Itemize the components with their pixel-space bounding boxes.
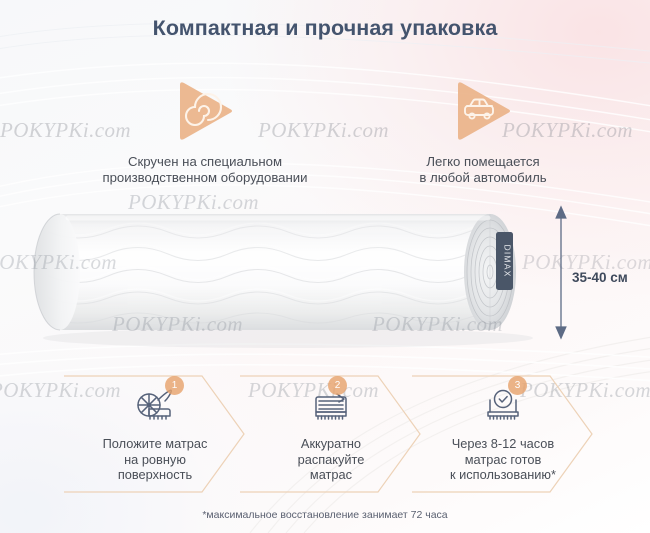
car-icon <box>448 76 518 146</box>
dimension-indicator: 35-40 см <box>548 205 648 340</box>
spiral-icon <box>170 76 240 146</box>
step-number-badge: 3 <box>508 376 527 395</box>
feature-line-2: производственном оборудовании <box>60 170 350 186</box>
page-title: Компактная и прочная упаковка <box>0 16 650 41</box>
rolled-mattress-image: DIMAX <box>8 196 548 348</box>
infographic-page: Компактная и прочная упаковка Скручен на… <box>0 0 650 533</box>
feature-block-car: Легко помещается в любой автомобиль <box>358 76 608 186</box>
step-line: Через 8-12 часов <box>410 436 596 452</box>
feature-line-2: в любой автомобиль <box>358 170 608 186</box>
step-line: матрас <box>238 467 424 483</box>
feature-block-twisted: Скручен на специальном производственном … <box>60 76 350 186</box>
spiral-icon-container <box>170 76 240 146</box>
step-line: матрас готов <box>410 452 596 468</box>
step-line: поверхность <box>62 467 248 483</box>
step-number-badge: 1 <box>165 376 184 395</box>
steps-row: 1 Положите матрас на ровную поверхность <box>0 374 650 498</box>
step-number-badge: 2 <box>328 376 347 395</box>
step-line: распакуйте <box>238 452 424 468</box>
step-line: Положите матрас <box>62 436 248 452</box>
dimension-label: 35-40 см <box>572 270 628 285</box>
step-line: на ровную <box>62 452 248 468</box>
footnote: *максимальное восстановление занимает 72… <box>0 509 650 521</box>
step-card-2: 2 Аккуратно распакуйте матрас <box>238 374 424 494</box>
car-icon-container <box>448 76 518 146</box>
step-card-1: 1 Положите матрас на ровную поверхность <box>62 374 248 494</box>
feature-line-1: Скручен на специальном <box>60 154 350 170</box>
step-card-3: 3 Через 8-12 часов матрас готов к исполь… <box>410 374 596 494</box>
brand-tag-label: DIMAX <box>503 245 513 278</box>
brand-tag: DIMAX <box>496 232 513 290</box>
step-line: Аккуратно <box>238 436 424 452</box>
feature-line-1: Легко помещается <box>358 154 608 170</box>
step-line: к использованию* <box>410 467 596 483</box>
